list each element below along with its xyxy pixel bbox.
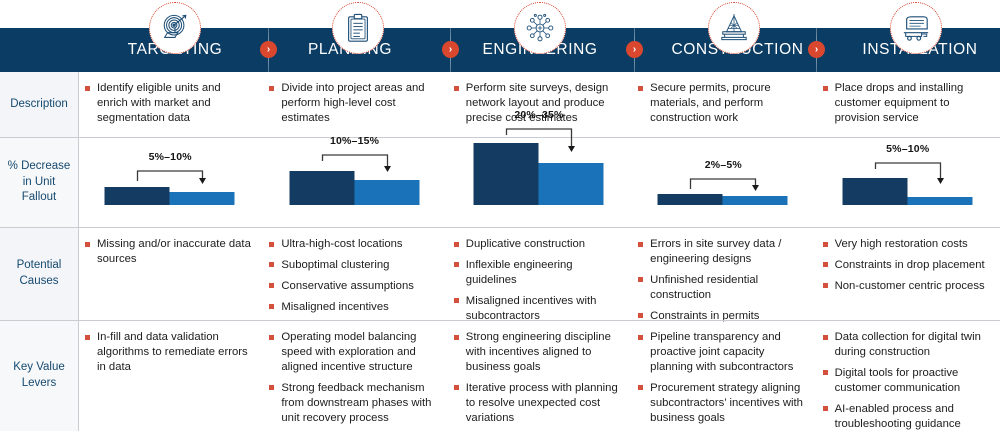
list-item: Identify eligible units and enrich with … <box>85 81 251 126</box>
bar-group-planning <box>289 143 420 205</box>
row-label-description: Description <box>0 72 78 137</box>
bar-group-targeting <box>105 143 236 205</box>
bar-before <box>658 194 723 205</box>
list-item: Misaligned incentives <box>269 300 435 315</box>
chevron-glyph: › <box>633 45 636 55</box>
row-label-decrease: % Decrease in Unit Fallout <box>0 138 78 227</box>
chart-annotation-engineering: 20%–35% <box>473 111 604 137</box>
cell-causes-installation: Very high restoration costs Constraints … <box>816 228 1000 320</box>
list-item: Ultra-high-cost locations <box>269 237 435 252</box>
badge-construction <box>708 2 760 54</box>
truck-icon <box>901 14 931 42</box>
badge-installation <box>890 2 942 54</box>
chart-cell-installation: 5%–10% <box>816 138 1000 227</box>
chevron-right-icon: › <box>442 41 459 58</box>
fallout-bar-chart: 5%–10% 10%–15% <box>78 138 1000 227</box>
cell-levers-installation: Data collection for digital twin during … <box>816 321 1000 431</box>
list-item: Constraints in drop placement <box>823 258 989 273</box>
list-item: AI-enabled process and troubleshooting g… <box>823 402 989 431</box>
badge-engineering <box>514 2 566 54</box>
chart-cell-engineering: 20%–35% <box>447 138 631 227</box>
row-label-text: Potential <box>17 258 62 274</box>
list-item: Digital tools for proactive customer com… <box>823 366 989 396</box>
chevron-right-icon: › <box>808 41 825 58</box>
list-item: Place drops and installing customer equi… <box>823 81 989 126</box>
list-item: Conservative assumptions <box>269 279 435 294</box>
infographic-page: TARGETING PLANNING ENGINEERING CONSTRUCT… <box>0 0 1000 431</box>
list-item: In-fill and data validation algorithms t… <box>85 330 251 375</box>
list-item: Duplicative construction <box>454 237 620 252</box>
bar-after <box>723 196 788 205</box>
bar-before <box>842 178 907 205</box>
cell-causes-planning: Ultra-high-cost locations Suboptimal clu… <box>262 228 446 320</box>
bar-after <box>170 192 235 205</box>
causes-row-cells: Missing and/or inaccurate data sources U… <box>78 228 1000 320</box>
chevron-glyph: › <box>815 45 818 55</box>
list-item: Operating model balancing speed with exp… <box>269 330 435 375</box>
cell-description-construction: Secure permits, procure materials, and p… <box>631 72 815 137</box>
list-item: Strong feedback mechanism from downstrea… <box>269 381 435 426</box>
list-item: Very high restoration costs <box>823 237 989 252</box>
row-label-text: Key Value <box>13 360 65 376</box>
bar-before <box>473 143 538 205</box>
clipboard-icon <box>344 13 372 43</box>
bar-after <box>907 197 972 205</box>
list-item: Secure permits, procure materials, and p… <box>638 81 804 126</box>
chevron-right-icon: › <box>260 41 277 58</box>
annotation-label: 20%–35% <box>473 109 604 121</box>
list-item: Unfinished residential construction <box>638 273 804 303</box>
list-item: Iterative process with planning to resol… <box>454 381 620 426</box>
cell-description-installation: Place drops and installing customer equi… <box>816 72 1000 137</box>
row-label-text: Causes <box>20 274 59 290</box>
bar-group-construction <box>658 143 789 205</box>
cell-causes-targeting: Missing and/or inaccurate data sources <box>78 228 262 320</box>
bar-before <box>289 171 354 205</box>
network-nodes-icon <box>525 13 555 43</box>
bar-group-installation <box>842 143 973 205</box>
cell-description-targeting: Identify eligible units and enrich with … <box>78 72 262 137</box>
list-item: Suboptimal clustering <box>269 258 435 273</box>
cell-causes-construction: Errors in site survey data / engineering… <box>631 228 815 320</box>
list-item: Strong engineering discipline with incen… <box>454 330 620 375</box>
list-item: Missing and/or inaccurate data sources <box>85 237 251 267</box>
chart-cell-targeting: 5%–10% <box>78 138 262 227</box>
bar-group-engineering <box>473 143 604 205</box>
row-label-potential-causes: Potential Causes <box>0 228 78 320</box>
row-label-text: in Unit <box>23 175 56 191</box>
chart-cell-planning: 10%–15% <box>262 138 446 227</box>
row-label-key-value-levers: Key Value Levers <box>0 321 78 431</box>
cell-levers-construction: Pipeline transparency and proactive join… <box>631 321 815 431</box>
bar-after <box>354 180 419 205</box>
row-label-text: % Decrease <box>8 159 71 175</box>
chevron-right-icon: › <box>626 41 643 58</box>
row-label-text: Levers <box>22 376 57 392</box>
content-grid: Description Identify eligible units and … <box>0 72 1000 431</box>
crane-icon <box>719 13 749 43</box>
bar-before <box>105 187 170 205</box>
cell-levers-planning: Operating model balancing speed with exp… <box>262 321 446 431</box>
row-label-text: Description <box>10 97 68 113</box>
list-item: Data collection for digital twin during … <box>823 330 989 360</box>
list-item: Pipeline transparency and proactive join… <box>638 330 804 375</box>
row-label-text: Fallout <box>22 190 57 206</box>
levers-row-cells: In-fill and data validation algorithms t… <box>78 321 1000 431</box>
list-item: Procurement strategy aligning subcontrac… <box>638 381 804 426</box>
bar-after <box>538 163 603 205</box>
cell-description-planning: Divide into project areas and perform hi… <box>262 72 446 137</box>
chevron-glyph: › <box>449 45 452 55</box>
badge-planning <box>332 2 384 54</box>
cell-causes-engineering: Duplicative construction Inflexible engi… <box>447 228 631 320</box>
list-item: Errors in site survey data / engineering… <box>638 237 804 267</box>
list-item: Inflexible engineering guidelines <box>454 258 620 288</box>
badge-targeting <box>149 2 201 54</box>
chart-cell-construction: 2%–5% <box>631 138 815 227</box>
list-item: Divide into project areas and perform hi… <box>269 81 435 126</box>
list-item: Non-customer centric process <box>823 279 989 294</box>
cell-levers-targeting: In-fill and data validation algorithms t… <box>78 321 262 431</box>
target-icon <box>160 13 190 43</box>
cell-levers-engineering: Strong engineering discipline with incen… <box>447 321 631 431</box>
chevron-glyph: › <box>267 45 270 55</box>
